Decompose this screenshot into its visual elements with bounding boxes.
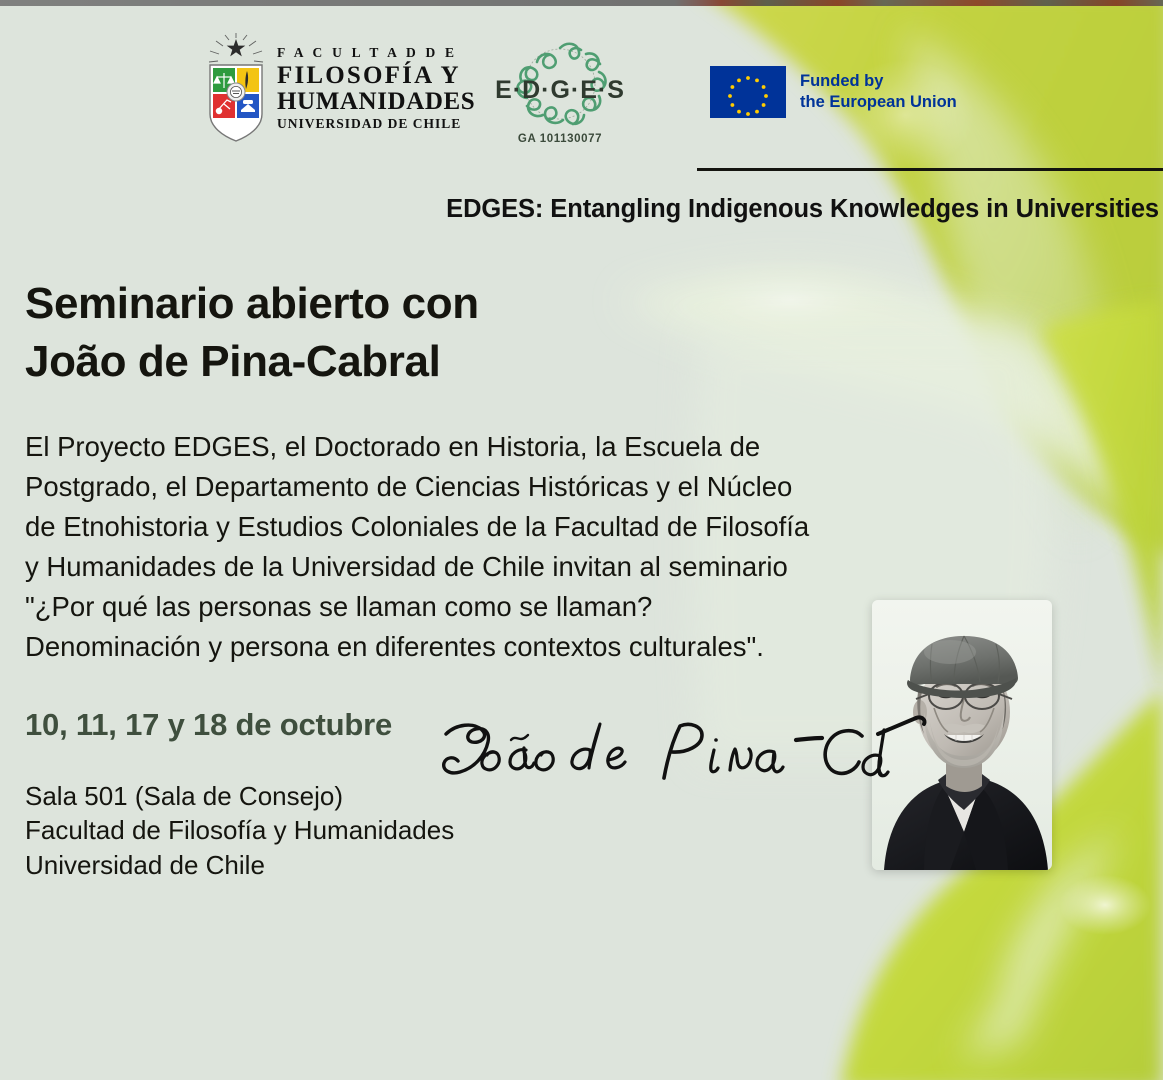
uchile-logo-text: F A C U L T A D D E FILOSOFÍA Y HUMANIDA… (277, 46, 475, 130)
blob-right-band (1040, 300, 1163, 700)
venue-line-2: Facultad de Filosofía y Humanidades (25, 813, 855, 847)
blob-sheen-1 (1059, 875, 1151, 935)
speaker-portrait-svg (872, 600, 1052, 870)
signature-svg (432, 712, 892, 796)
eu-funding-logo: Funded by the European Union (710, 66, 957, 118)
page-title: Seminario abierto con João de Pina-Cabra… (25, 275, 855, 391)
eu-flag-icon (710, 66, 786, 118)
description-paragraph: El Proyecto EDGES, el Doctorado en Histo… (25, 427, 815, 667)
edges-logo: E·D·G·E·S GA 101130077 (487, 38, 633, 150)
uchile-line-2: FILOSOFÍA Y (277, 63, 475, 88)
uchile-faculty-logo: F A C U L T A D D E FILOSOFÍA Y HUMANIDA… (205, 32, 475, 144)
uchile-line-4: UNIVERSIDAD DE CHILE (277, 117, 475, 131)
uchile-line-1: F A C U L T A D D E (277, 46, 475, 60)
project-title: EDGES: Entangling Indigenous Knowledges … (446, 195, 1159, 224)
header-divider-rule (697, 168, 1163, 171)
top-edge-strip (0, 0, 1163, 6)
uchile-shield-svg (205, 32, 267, 144)
eu-text-line-2: the European Union (800, 92, 957, 113)
edges-wordmark: E·D·G·E·S (487, 76, 633, 105)
uchile-line-3: HUMANIDADES (277, 89, 475, 114)
headline-line-2: João de Pina-Cabral (25, 333, 855, 391)
edges-grant-number: GA 101130077 (487, 133, 633, 145)
logo-bar: F A C U L T A D D E FILOSOFÍA Y HUMANIDA… (0, 0, 1163, 170)
poster-root: F A C U L T A D D E FILOSOFÍA Y HUMANIDA… (0, 0, 1163, 1080)
uchile-shield-icon (205, 32, 267, 144)
headline-line-1: Seminario abierto con (25, 279, 479, 328)
eu-text-line-1: Funded by (800, 71, 957, 92)
signature-image (432, 712, 892, 796)
venue-line-3: Universidad de Chile (25, 848, 855, 882)
speaker-portrait (872, 600, 1052, 870)
eu-funding-text: Funded by the European Union (800, 71, 957, 113)
eu-flag-svg (710, 66, 786, 118)
